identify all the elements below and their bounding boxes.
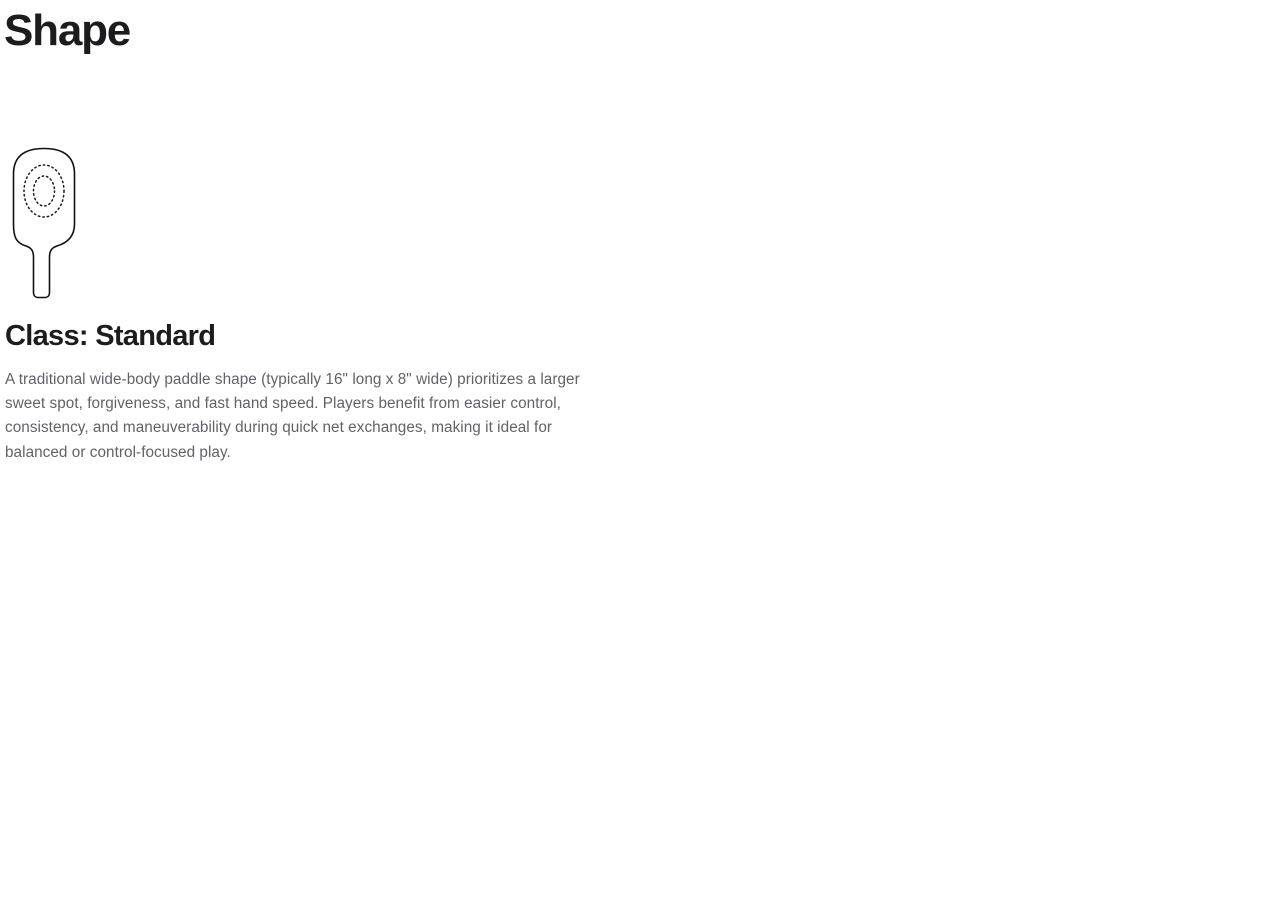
shape-cards-container: Class: Standard A traditional wide-body … (0, 140, 1272, 920)
paddle-outline (14, 149, 75, 298)
card-body-standard: A traditional wide-body paddle shape (ty… (5, 368, 606, 465)
page-title: Shape (4, 8, 130, 54)
standard-paddle-illustration (5, 140, 606, 305)
sweet-spot-outer-ellipse (24, 165, 64, 217)
sweet-spot-inner-ellipse (34, 176, 55, 206)
card-heading-standard: Class: Standard (5, 321, 606, 353)
shape-card-standard: Class: Standard A traditional wide-body … (0, 140, 606, 920)
shape-card-scorpeus: Shape: Scorpeus This standard paddle sha… (606, 140, 1272, 920)
